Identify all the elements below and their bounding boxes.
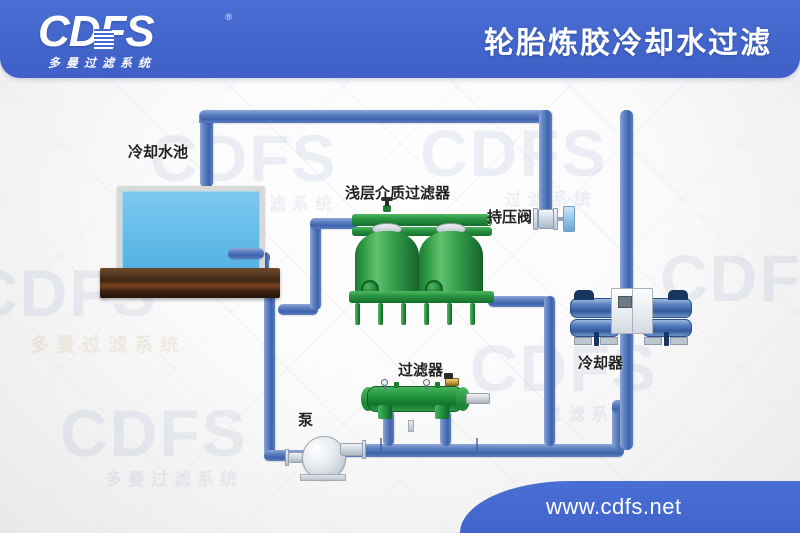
label-pump: 泵 [298,409,313,430]
cooler-foot [574,337,592,345]
label-pressure-valve: 持压阀 [487,206,532,227]
filter-vent-fitting [435,382,440,388]
cooler-foot [670,337,688,345]
filter-vessel-saddle-right [435,405,449,419]
pump-discharge-flange [362,440,366,459]
pipe-pool-riser [200,118,213,188]
label-cooling-pool: 冷却水池 [128,141,188,162]
cooler-display-screen [618,296,632,308]
brass-valve-handle [444,373,453,379]
diagram-page: CDFS CDFS CDFS CDFS CDFS CDFS 多曼过滤系统 多曼过… [0,0,800,533]
pipe-suction-vertical [264,276,275,456]
pipe-top-header [200,110,552,123]
cooling-pool-water [122,191,260,279]
cooler-foot [600,337,618,345]
valve-actuator-disc [563,206,575,232]
gauge-stem [384,385,386,390]
label-filter: 过滤器 [398,359,443,380]
cooler-cabinet-divider [632,288,633,334]
cooler-nozzle-left [574,290,594,300]
cooler-support-post [594,332,599,346]
filter-leg [401,303,406,325]
filter-drain-stub [408,420,414,432]
watermark-cdfs: CDFS [60,395,248,471]
label-cooler: 冷却器 [578,352,623,373]
filter-vessel-saddle-left [378,405,392,419]
pipe-tank-feed-top [310,218,358,229]
registered-trademark-icon: ® [225,12,232,22]
page-footer: www.cdfs.net [460,481,800,533]
filter-top-vent-handle [381,197,393,201]
cooler-unit [570,288,692,350]
filter-bottom-header [349,291,494,303]
brand-wordmark: CDFS [38,10,228,54]
pressure-valve-body [538,209,554,229]
watermark-cn: 多曼过滤系统 [105,465,243,490]
pipe-joint-mark [476,438,478,450]
pipe-tank-feed-riser [310,218,321,310]
pipe-joint-mark [380,438,382,450]
pipe-tank-outlet-down [544,296,555,446]
brand-chinese-name: 多曼过滤系统 [48,54,156,71]
website-url[interactable]: www.cdfs.net [546,494,682,520]
pump-suction-flange [285,449,289,466]
page-title: 轮胎炼胶冷却水过滤 [484,18,772,62]
filter-leg [470,303,475,325]
pipe-valve-riser [539,110,552,220]
label-shallow-media-filter: 浅层介质过滤器 [345,182,450,203]
pump-discharge-spool [340,443,364,456]
pump-baseplate [300,474,346,481]
filter-top-header-upper [352,214,492,226]
pipe-pool-side-outlet [228,248,264,259]
cooler-foot [644,337,662,345]
filter-leg [378,303,383,325]
brass-valve-fitting [445,378,459,386]
brand-logo[interactable]: CDFS ® 多曼过滤系统 [38,10,228,70]
cooler-nozzle-right [668,290,688,300]
watermark-cdfs: CDFS [420,115,608,191]
watermark-cn: 多曼过滤系统 [30,330,186,357]
filter-outlet-nozzle [466,393,490,404]
filter-leg [447,303,452,325]
cooler-support-post [664,332,669,346]
filter-top-vent-valve [383,205,391,212]
filter-vent-fitting [394,382,399,388]
logo-stripe-icon [94,29,114,51]
ground-soil-layer [100,268,280,298]
gauge-stem [426,385,428,390]
filter-leg [424,303,429,325]
pipe-tank-outlet [488,296,550,307]
page-header: CDFS ® 多曼过滤系统 轮胎炼胶冷却水过滤 [0,0,800,78]
filter-leg [355,303,360,325]
